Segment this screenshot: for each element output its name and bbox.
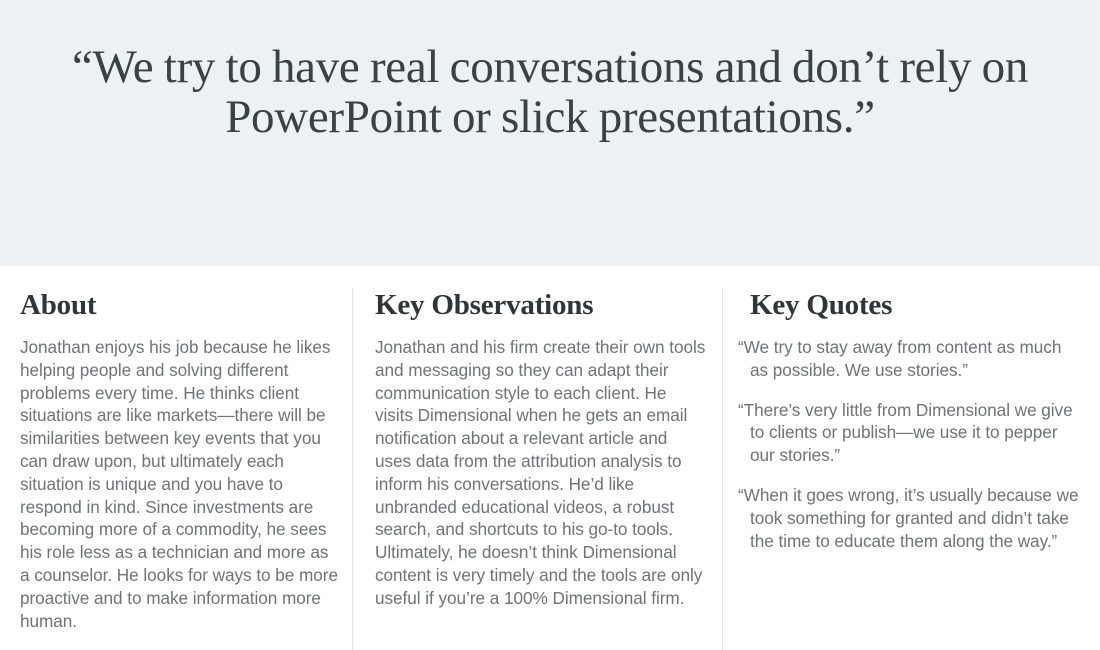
key-quote-item: “When it goes wrong, it’s usually becaus… [738,484,1082,552]
hero-pull-quote: “We try to have real conversations and d… [0,0,1100,142]
hero-quote-band: “We try to have real conversations and d… [0,0,1100,266]
persona-profile-page: “We try to have real conversations and d… [0,0,1100,650]
key-observations-body-text: Jonathan and his firm create their own t… [375,336,708,610]
about-heading: About [20,288,338,322]
key-quotes-heading: Key Quotes [738,288,1082,322]
key-quote-item: “There’s very little from Dimensional we… [738,399,1082,467]
column-key-quotes: Key Quotes “We try to stay away from con… [722,266,1100,650]
key-quote-item: “We try to stay away from content as muc… [738,336,1082,382]
content-columns: About Jonathan enjoys his job because he… [0,266,1100,650]
about-body-text: Jonathan enjoys his job because he likes… [20,336,338,632]
column-key-observations: Key Observations Jonathan and his firm c… [352,266,722,650]
key-observations-heading: Key Observations [375,288,708,322]
key-quotes-list: “We try to stay away from content as muc… [738,336,1082,552]
column-about: About Jonathan enjoys his job because he… [0,266,352,650]
